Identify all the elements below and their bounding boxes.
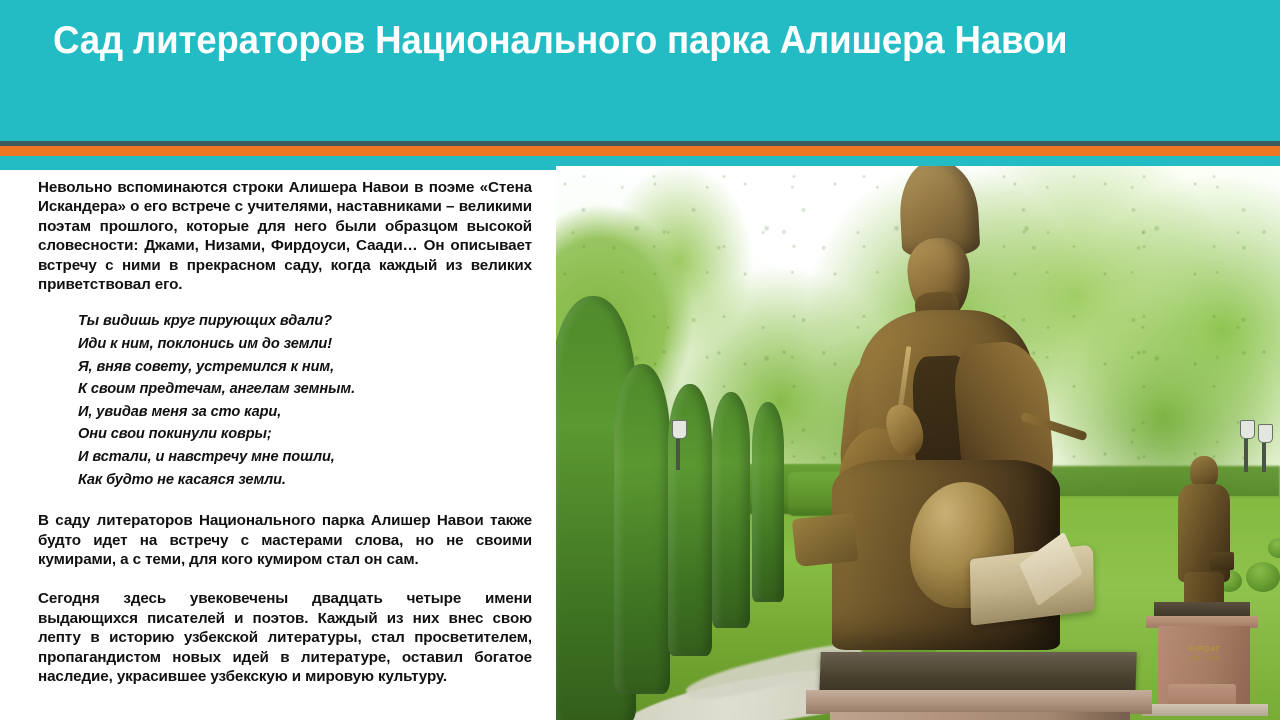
paragraph-today: Сегодня здесь увековечены двадцать четыр… — [38, 589, 532, 686]
background-plinth-base — [1142, 704, 1268, 716]
poem-line: К своим предтечам, ангелам земным. — [78, 378, 532, 401]
poem-line: И встали, и навстречу мне пошли, — [78, 446, 532, 469]
body-text-column: Невольно вспоминаются строки Алишера Нав… — [38, 178, 532, 700]
monument-photo: FURQAT 1859 - 1909 — [556, 166, 1280, 720]
header-banner: Сад литераторов Национального парка Алиш… — [0, 0, 1280, 141]
photo-scene: FURQAT 1859 - 1909 — [556, 166, 1280, 720]
foreground-statue-figure — [792, 166, 1092, 660]
background-plinth-dates: 1859 - 1909 — [1158, 656, 1250, 662]
divider-orange-stripe — [0, 146, 1280, 156]
poem-block: Ты видишь круг пирующих вдали? Иди к ним… — [38, 310, 532, 491]
poem-line: Они свои покинули ковры; — [78, 423, 532, 446]
lamp-head-icon — [1258, 424, 1273, 443]
paragraph-garden: В саду литераторов Национального парка А… — [38, 511, 532, 569]
conifer-tree — [614, 364, 670, 694]
poem-line: Как будто не касаяся земли. — [78, 469, 532, 492]
lamp-post — [1244, 434, 1248, 472]
statue-book — [1210, 552, 1234, 570]
statue-scroll — [792, 513, 859, 567]
foreground-plinth-shadow — [1046, 712, 1130, 720]
background-plinth-name: FURQAT — [1158, 646, 1250, 653]
lamp-post — [1262, 438, 1266, 472]
poem-line: Ты видишь круг пирующих вдали? — [78, 310, 532, 333]
lamp-head-icon — [1240, 420, 1255, 439]
conifer-tree — [752, 402, 784, 602]
lamp-post — [676, 434, 680, 470]
conifer-tree — [712, 392, 750, 628]
paragraph-intro: Невольно вспоминаются строки Алишера Нав… — [38, 178, 532, 294]
slide-root: Сад литераторов Национального парка Алиш… — [0, 0, 1280, 720]
lamp-head-icon — [672, 420, 687, 439]
poem-line: Я, вняв совету, устремился к ним, — [78, 356, 532, 379]
background-statue-figure — [1164, 456, 1242, 616]
poem-line: Иди к ним, поклонись им до земли! — [78, 333, 532, 356]
shrub — [1246, 562, 1280, 592]
page-title: Сад литераторов Национального парка Алиш… — [53, 14, 1096, 67]
foreground-plinth-cap — [806, 690, 1152, 714]
poem-line: И, увидав меня за сто кари, — [78, 401, 532, 424]
